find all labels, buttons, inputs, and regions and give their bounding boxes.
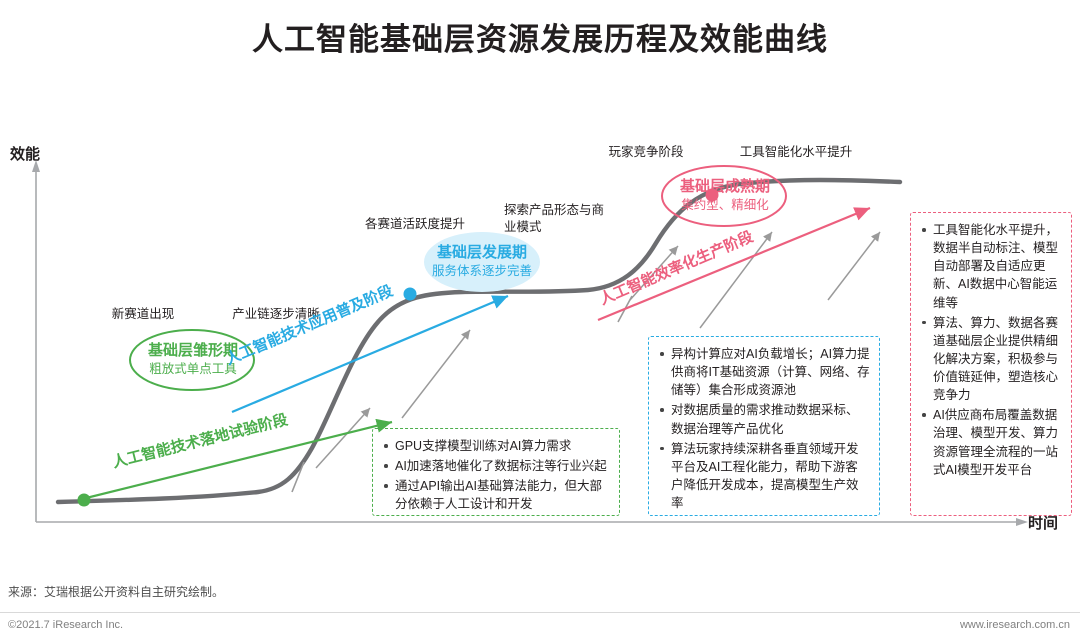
stage-badge-mature-sub: 集约型、精细化 (662, 197, 788, 213)
milestone-label-1: 新赛道出现 (88, 306, 198, 323)
milestone-label-5: 玩家竞争阶段 (586, 144, 706, 161)
annotation-pink-item-1: 工具智能化水平提升，数据半自动标注、模型自动部署及自适应更新、AI数据中心智能运… (920, 221, 1062, 312)
stage-badge-development-sub: 服务体系逐步完善 (422, 263, 542, 279)
y-axis-arrowhead (32, 160, 40, 172)
annotation-box-green: GPU支撑模型训练对AI算力需求 AI加速落地催化了数据标注等行业兴起 通过AP… (372, 428, 620, 516)
annotation-blue-item-1: 异构计算应对AI负载增长；AI算力提供商将IT基础资源（计算、网络、存储等）集合… (658, 345, 870, 399)
annotation-green-item-1: GPU支撑模型训练对AI算力需求 (382, 437, 610, 455)
footer-divider (0, 612, 1080, 640)
annotation-box-pink: 工具智能化水平提升，数据半自动标注、模型自动部署及自适应更新、AI数据中心智能运… (910, 212, 1072, 516)
stage-badge-mature: 基础层成熟期 集约型、精细化 (662, 177, 788, 213)
annotation-box-blue: 异构计算应对AI负载增长；AI算力提供商将IT基础资源（计算、网络、存储等）集合… (648, 336, 880, 516)
website-text: www.iresearch.com.cn (960, 619, 1070, 631)
copyright-text: ©2021.7 iResearch Inc. (8, 619, 123, 631)
marker-blue (404, 288, 417, 301)
stage-badge-mature-title: 基础层成熟期 (662, 177, 788, 197)
milestone-label-4: 探索产品形态与商 业模式 (504, 202, 654, 236)
annotation-pink-item-2: 算法、算力、数据各赛道基础层企业提供精细化解决方案，积极参与价值链延伸，塑造核心… (920, 314, 1062, 405)
stage-badge-development-title: 基础层发展期 (422, 243, 542, 263)
annotation-pink-item-3: AI供应商布局覆盖数据治理、模型开发、算力资源管理全流程的一站式AI模型开发平台 (920, 406, 1062, 479)
annotation-green-item-2: AI加速落地催化了数据标注等行业兴起 (382, 457, 610, 475)
milestone-label-6: 工具智能化水平提升 (716, 144, 876, 161)
milestone-label-4-line2: 业模式 (504, 220, 542, 234)
stage-badge-development: 基础层发展期 服务体系逐步完善 (422, 243, 542, 279)
annotation-blue-item-3: 算法玩家持续深耕各垂直领域开发平台及AI工程化能力，帮助下游客户降低开发成本，提… (658, 440, 870, 513)
annotation-blue-item-2: 对数据质量的需求推动数据采标、数据治理等产品优化 (658, 401, 870, 437)
x-axis-arrowhead (1016, 518, 1028, 526)
annotation-green-item-3: 通过API输出AI基础算法能力，但大部分依赖于人工设计和开发 (382, 477, 610, 513)
milestone-label-4-line1: 探索产品形态与商 (504, 203, 604, 217)
source-note: 来源：艾瑞根据公开资料自主研究绘制。 (8, 583, 224, 600)
milestone-label-3: 各赛道活跃度提升 (340, 216, 490, 233)
